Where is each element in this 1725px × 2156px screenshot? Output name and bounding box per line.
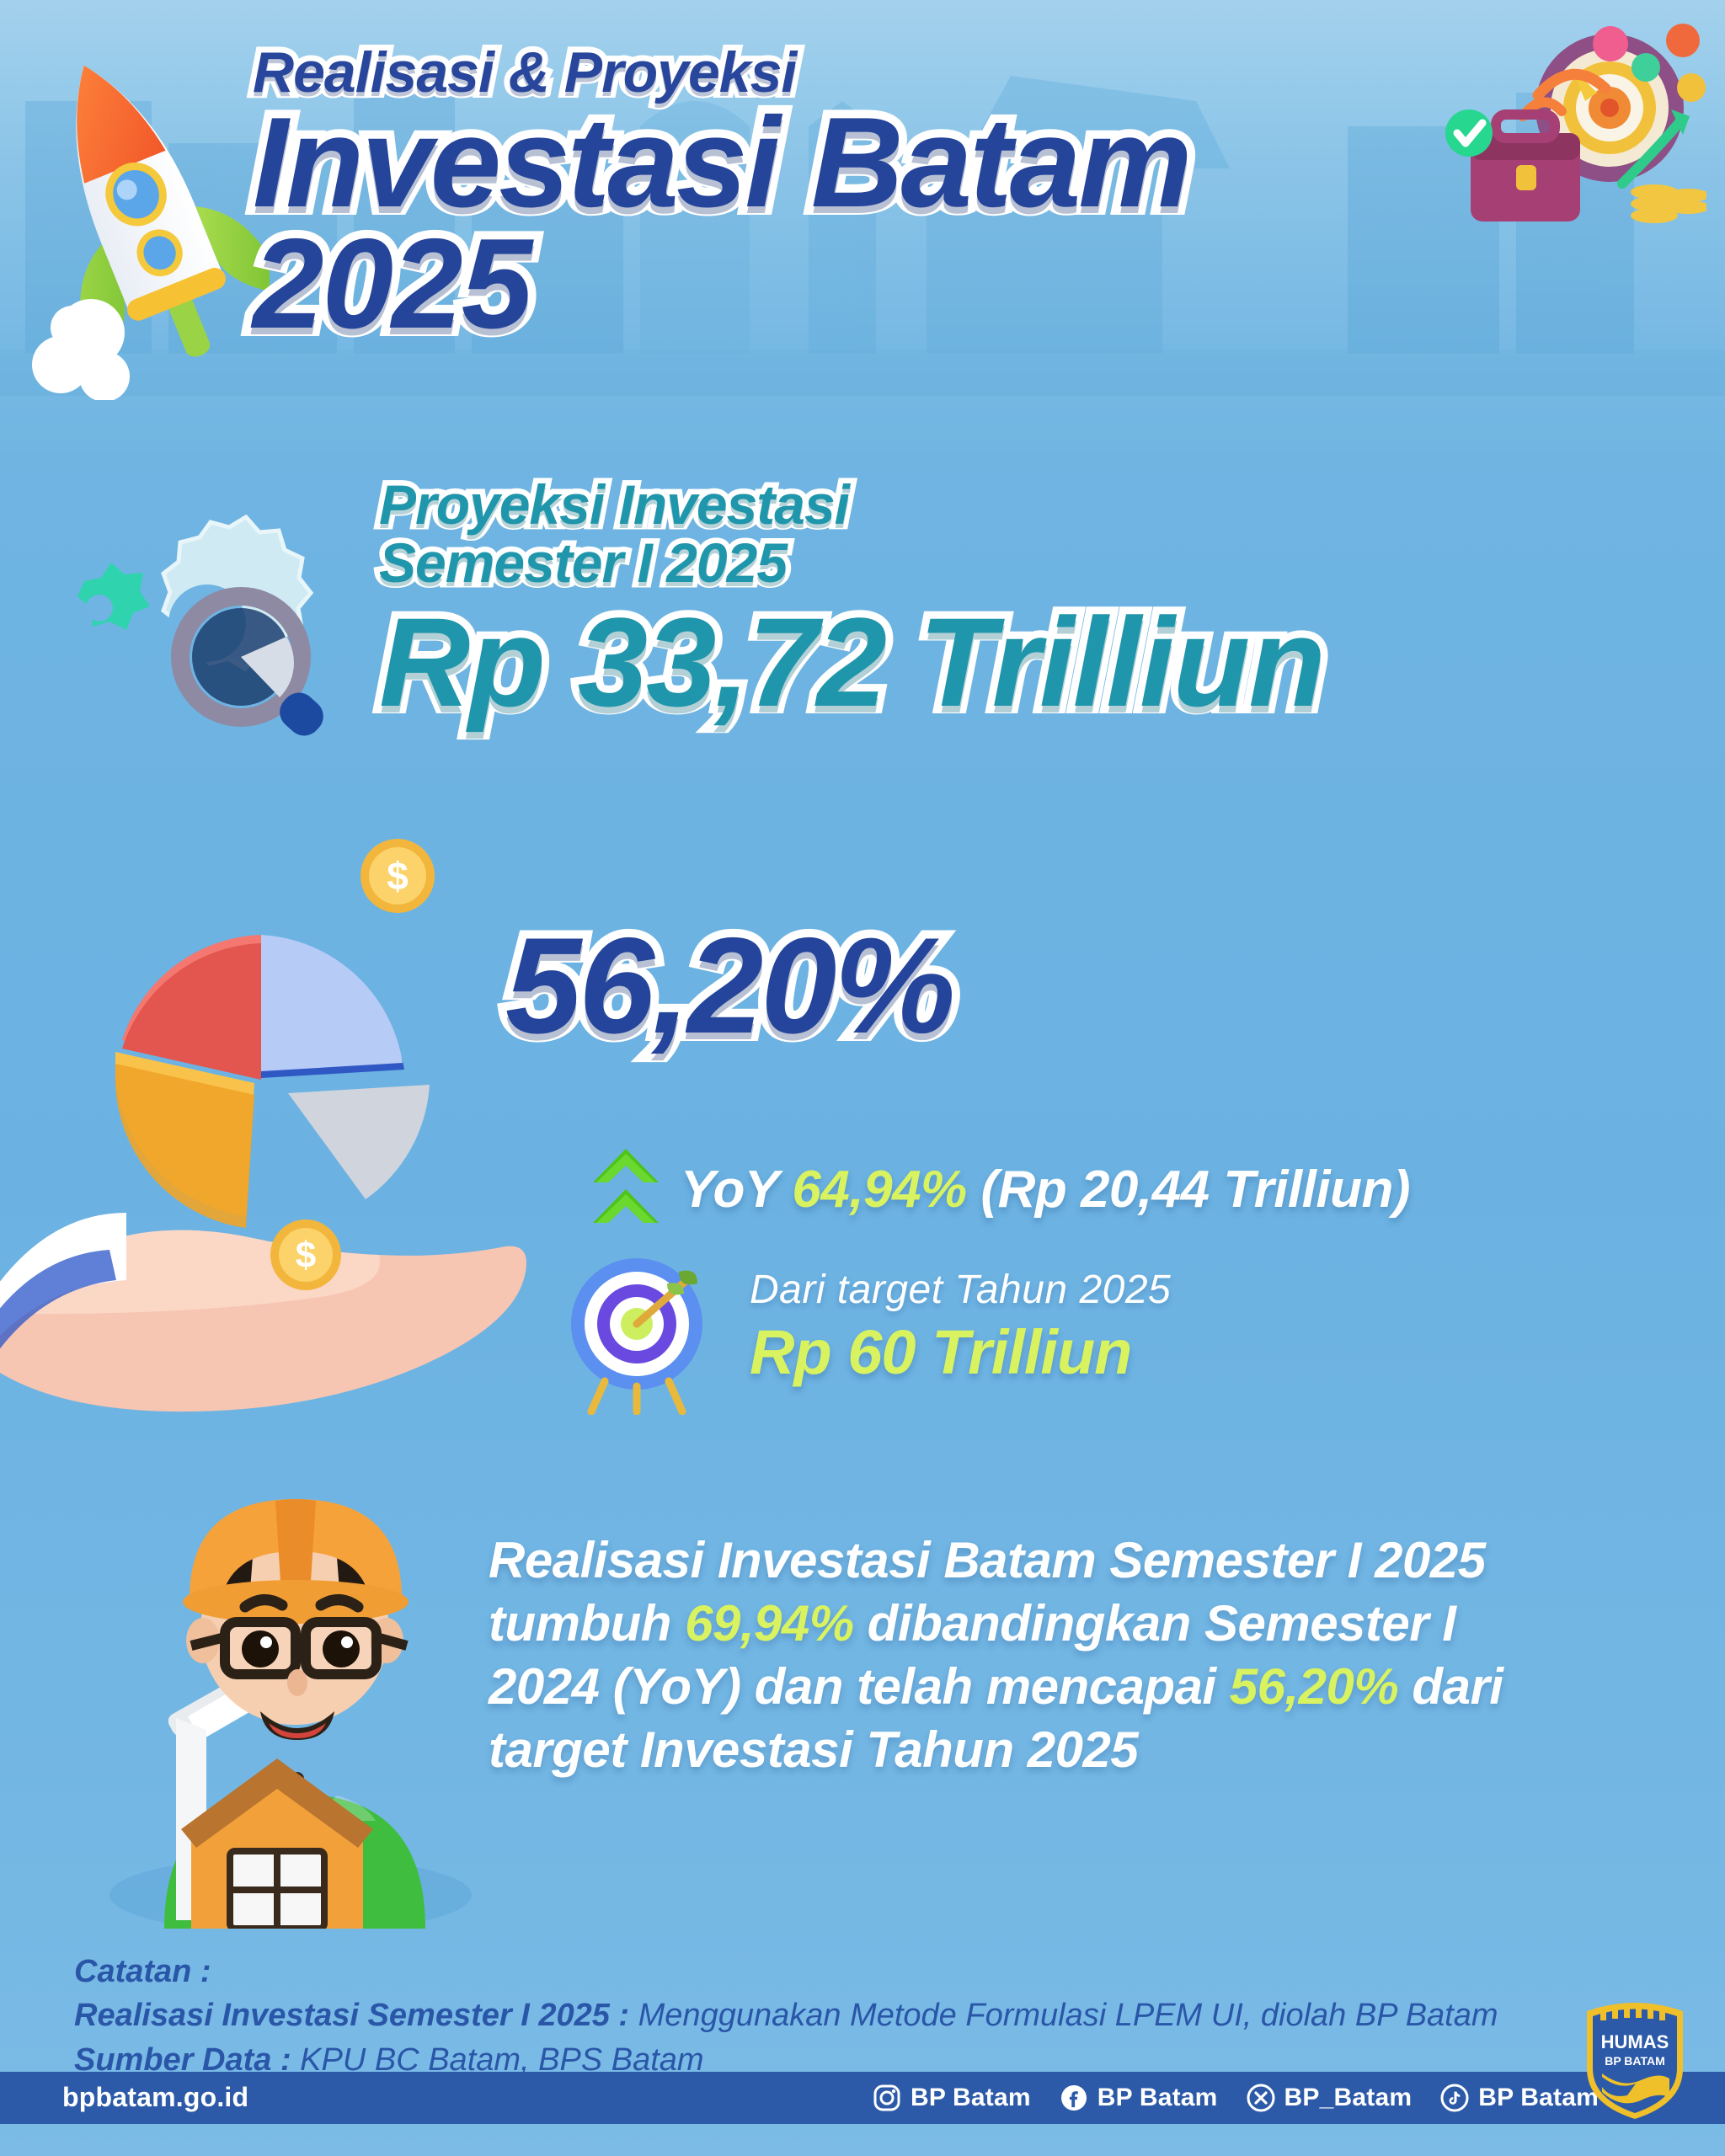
yoy-value: 64,94%	[792, 1161, 966, 1219]
humas-bp-batam-shield-logo: HUMAS BP BATAM	[1580, 1993, 1690, 2121]
footer-bar: bpbatam.go.id BP Batam BP Batam BP_Batam	[0, 2072, 1725, 2124]
target-dartboard-icon	[556, 1246, 724, 1415]
humas-logo-line2: BP BATAM	[1605, 2054, 1665, 2068]
briefcase-target-growth-icon	[1429, 15, 1706, 259]
projection-block: Proyeksi Investasi Semester I 2025 Rp 33…	[379, 476, 1693, 727]
notes-line-1-value: Menggunakan Metode Formulasi LPEM UI, di…	[638, 1998, 1498, 2033]
x-twitter-icon	[1247, 2084, 1275, 2112]
projection-label-line2: Semester I 2025	[379, 534, 1693, 592]
narrative-text: Realisasi Investasi Batam Semester I 202…	[489, 1529, 1567, 1781]
svg-text:$: $	[387, 854, 409, 898]
social-links: BP Batam BP Batam BP_Batam BP Batam	[873, 2084, 1599, 2112]
poster-header: Realisasi & Proyeksi Investasi Batam 202…	[0, 0, 1725, 421]
infographic-poster: Realisasi & Proyeksi Investasi Batam 202…	[0, 0, 1725, 2156]
narrative-achieved: 56,20%	[1230, 1658, 1399, 1715]
facebook-icon	[1060, 2084, 1088, 2112]
instagram-icon	[873, 2084, 901, 2112]
social-x[interactable]: BP_Batam	[1247, 2084, 1413, 2112]
engineer-avatar-icon	[80, 1449, 484, 1929]
social-instagram[interactable]: BP Batam	[873, 2084, 1031, 2112]
notes-block: Catatan : Realisasi Investasi Semester I…	[74, 1950, 1658, 2082]
social-facebook[interactable]: BP Batam	[1060, 2084, 1218, 2112]
target-row: Dari target Tahun 2025 Rp 60 Trilliun	[556, 1246, 1171, 1415]
yoy-text: YoY 64,94% (Rp 20,44 Trilliun)	[681, 1160, 1410, 1219]
target-caption: Dari target Tahun 2025	[750, 1268, 1171, 1313]
title-year: 2025	[253, 223, 1189, 346]
notes-heading: Catatan :	[74, 1950, 1658, 1993]
website-url[interactable]: bpbatam.go.id	[42, 2078, 269, 2119]
social-instagram-label: BP Batam	[911, 2084, 1031, 2112]
title-block: Realisasi & Proyeksi Investasi Batam 202…	[253, 44, 1189, 346]
notes-line-1-label: Realisasi Investasi Semester I 2025 :	[74, 1998, 638, 2033]
notes-line-1: Realisasi Investasi Semester I 2025 : Me…	[74, 1993, 1658, 2037]
gear-magnifier-icon	[34, 488, 371, 758]
target-value: Rp 60 Trilliun	[750, 1318, 1171, 1386]
humas-logo-line1: HUMAS	[1601, 2031, 1669, 2052]
social-x-label: BP_Batam	[1284, 2084, 1413, 2112]
double-chevron-up-icon	[590, 1145, 662, 1233]
page-title: Investasi Batam	[253, 103, 1189, 223]
projection-label-line1: Proyeksi Investasi	[379, 476, 1693, 534]
pie-chart-in-hand-icon: $ $	[0, 808, 531, 1474]
achievement-percent: 56,20%	[505, 918, 953, 1054]
narrative-growth: 69,94%	[685, 1595, 854, 1652]
yoy-prefix: YoY	[681, 1161, 778, 1219]
yoy-row: YoY 64,94% (Rp 20,44 Trilliun)	[590, 1145, 1410, 1233]
social-tiktok[interactable]: BP Batam	[1440, 2084, 1599, 2112]
tiktok-icon	[1440, 2084, 1469, 2112]
projection-value: Rp 33,72 Trilliun	[379, 598, 1693, 727]
yoy-amount: (Rp 20,44 Trilliun)	[980, 1161, 1410, 1219]
rocket-icon	[17, 46, 270, 400]
social-facebook-label: BP Batam	[1097, 2084, 1218, 2112]
svg-text:$: $	[296, 1235, 316, 1276]
